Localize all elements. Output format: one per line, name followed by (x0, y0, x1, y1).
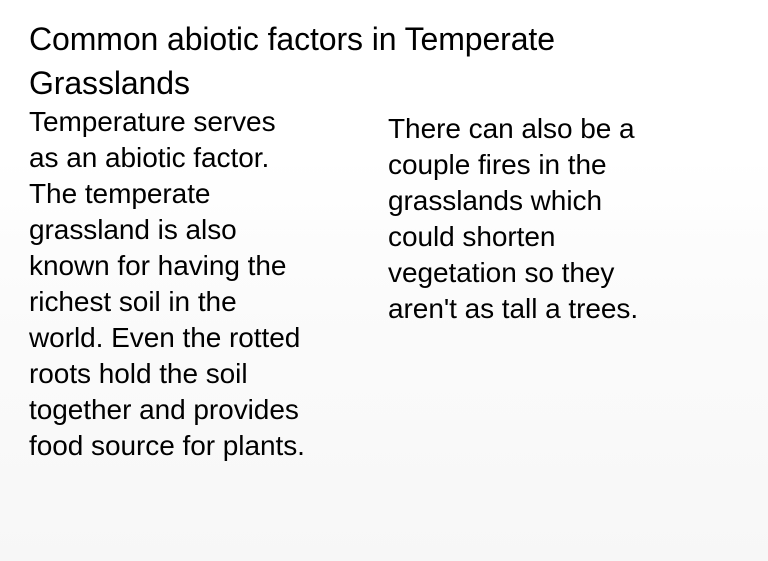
body-columns: Temperature serves as an abiotic factor.… (0, 0, 768, 561)
slide-canvas: Common abiotic factors in Temperate Gras… (0, 0, 768, 561)
text-column-right: There can also be a couple fires in the … (388, 111, 650, 327)
text-column-left: Temperature serves as an abiotic factor.… (29, 104, 305, 464)
